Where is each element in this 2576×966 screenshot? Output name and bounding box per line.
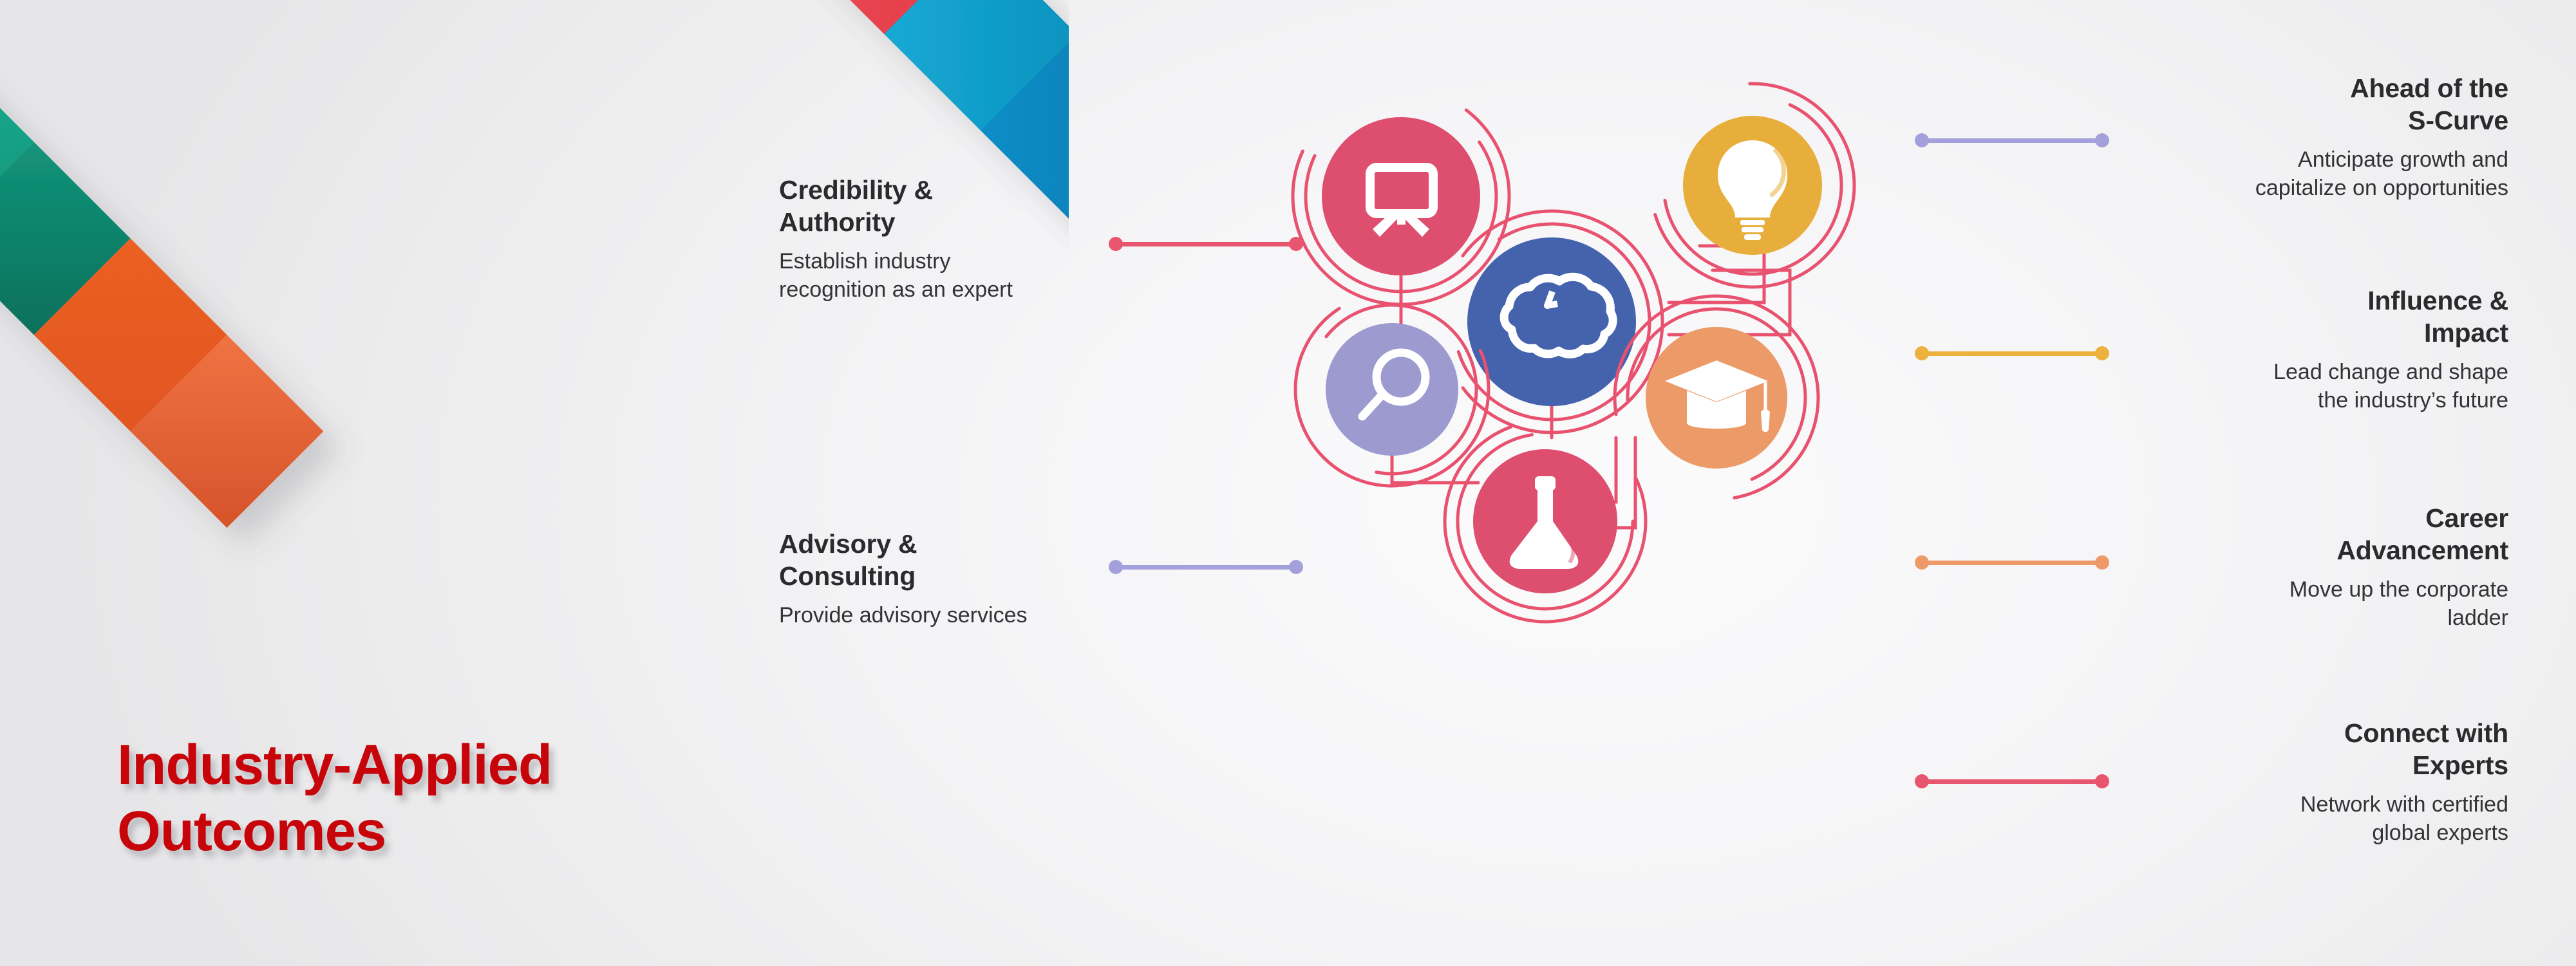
label-desc: Anticipate growth and capitalize on oppo… xyxy=(2096,145,2508,202)
connector-dot-end xyxy=(2095,555,2109,570)
connector-dot-start xyxy=(1915,346,1929,360)
label-title: Credibility & Authority xyxy=(779,174,1178,238)
label-title: Influence & Impact xyxy=(2096,284,2508,349)
connector-bar xyxy=(1915,351,2109,356)
label-influence: Influence & Impact Lead change and shape… xyxy=(2096,284,2508,414)
connector-influence xyxy=(1915,346,2109,360)
icon-hub-cluster xyxy=(1275,77,1957,850)
connector-bar xyxy=(1109,242,1302,246)
connector-bar xyxy=(1109,565,1302,570)
connector-dot-end xyxy=(2095,133,2109,147)
connector-connect xyxy=(1915,774,2109,788)
label-connect: Connect with Experts Network with certif… xyxy=(2096,717,2508,847)
label-title: Connect with Experts xyxy=(2096,717,2508,781)
connector-s-curve xyxy=(1915,133,2109,147)
connector-dot-end xyxy=(2095,774,2109,788)
connector-dot-start xyxy=(1109,237,1123,251)
label-desc: Lead change and shape the industry’s fut… xyxy=(2096,358,2508,414)
hub-node-presentation xyxy=(1293,88,1509,304)
connector-dot-end xyxy=(1289,560,1303,574)
connector-advisory xyxy=(1109,560,1302,574)
connector-dot-start xyxy=(1915,774,1929,788)
label-title: Career Advancement xyxy=(2096,502,2508,566)
connector-credibility xyxy=(1109,237,1302,251)
connector-career xyxy=(1915,555,2109,570)
connector-dot-start xyxy=(1915,555,1929,570)
connector-dot-start xyxy=(1109,560,1123,574)
connector-dot-end xyxy=(2095,346,2109,360)
connector-bar xyxy=(1915,138,2109,143)
connector-bar xyxy=(1915,779,2109,784)
connector-dot-end xyxy=(1289,237,1303,251)
label-desc: Provide advisory services xyxy=(779,601,1178,629)
label-desc: Move up the corporate ladder xyxy=(2096,575,2508,632)
infographic-canvas: Credibility & Authority Establish indust… xyxy=(0,0,2576,966)
connector-dot-start xyxy=(1915,133,1929,147)
label-s-curve: Ahead of the S-Curve Anticipate growth a… xyxy=(2096,72,2508,202)
label-title: Ahead of the S-Curve xyxy=(2096,72,2508,136)
hub-node-education xyxy=(1615,296,1818,499)
page-title: Industry-Applied Outcomes xyxy=(117,732,552,864)
connector-bar xyxy=(1915,561,2109,565)
label-desc: Network with certified global experts xyxy=(2096,790,2508,847)
label-career: Career Advancement Move up the corporate… xyxy=(2096,502,2508,632)
label-desc: Establish industry recognition as an exp… xyxy=(779,247,1178,304)
label-advisory: Advisory & Consulting Provide advisory s… xyxy=(779,528,1178,629)
hub-node-idea xyxy=(1651,84,1854,287)
